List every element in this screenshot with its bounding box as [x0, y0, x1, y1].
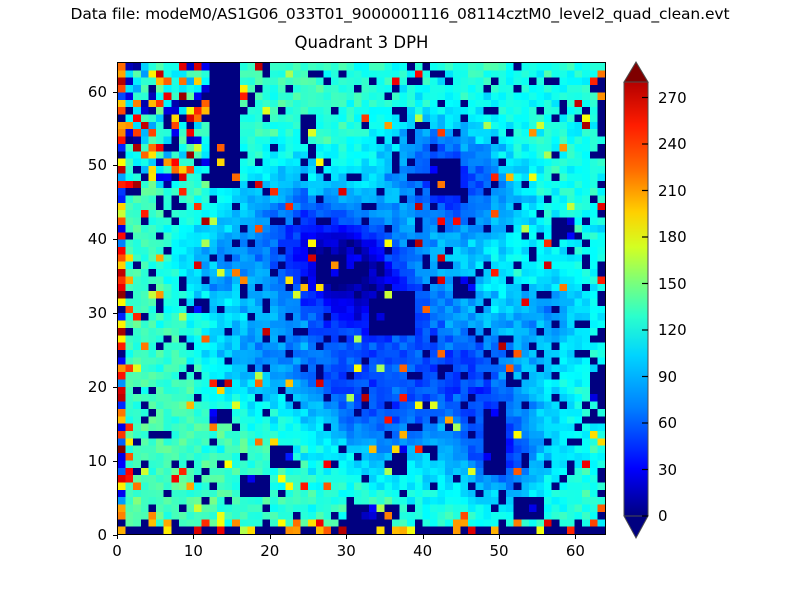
x-tick-label: 20 [240, 542, 300, 560]
y-tick-label: 0 [47, 526, 107, 544]
y-tick-label: 30 [47, 304, 107, 322]
colorbar-tick-label: 240 [658, 135, 687, 153]
y-tick-mark [113, 387, 117, 388]
colorbar: 0306090120150180210240270 [622, 60, 654, 540]
colorbar-tick-label: 120 [658, 321, 687, 339]
x-tick-mark [346, 535, 347, 539]
x-tick-mark [423, 535, 424, 539]
colorbar-tick-label: 150 [658, 275, 687, 293]
y-tick-mark [113, 461, 117, 462]
colorbar-tick-label: 210 [658, 182, 687, 200]
y-tick-label: 60 [47, 83, 107, 101]
x-tick-label: 30 [316, 542, 376, 560]
y-tick-mark [113, 165, 117, 166]
colorbar-tick-label: 270 [658, 89, 687, 107]
colorbar-tick-label: 90 [658, 368, 677, 386]
y-tick-mark [113, 92, 117, 93]
x-tick-label: 10 [163, 542, 223, 560]
x-tick-label: 60 [545, 542, 605, 560]
y-tick-label: 40 [47, 230, 107, 248]
colorbar-tick-label: 180 [658, 228, 687, 246]
colorbar-gradient [622, 60, 654, 540]
x-tick-label: 40 [393, 542, 453, 560]
y-tick-mark [113, 239, 117, 240]
x-tick-label: 50 [469, 542, 529, 560]
x-tick-mark [193, 535, 194, 539]
heatmap-axes [117, 62, 606, 535]
colorbar-tick-label: 30 [658, 461, 677, 479]
x-tick-mark [499, 535, 500, 539]
y-tick-mark [113, 313, 117, 314]
x-tick-mark [575, 535, 576, 539]
figure-suptitle: Data file: modeM0/AS1G06_033T01_90000011… [0, 5, 800, 23]
y-tick-label: 10 [47, 452, 107, 470]
heatmap-image [118, 63, 605, 534]
matplotlib-figure: Data file: modeM0/AS1G06_033T01_90000011… [0, 0, 800, 600]
y-tick-label: 50 [47, 156, 107, 174]
colorbar-tick-label: 60 [658, 414, 677, 432]
x-tick-mark [270, 535, 271, 539]
axes-title: Quadrant 3 DPH [117, 33, 606, 52]
colorbar-tick-label: 0 [658, 507, 668, 525]
x-tick-mark [117, 535, 118, 539]
y-tick-label: 20 [47, 378, 107, 396]
y-tick-mark [113, 535, 117, 536]
x-tick-label: 0 [87, 542, 147, 560]
